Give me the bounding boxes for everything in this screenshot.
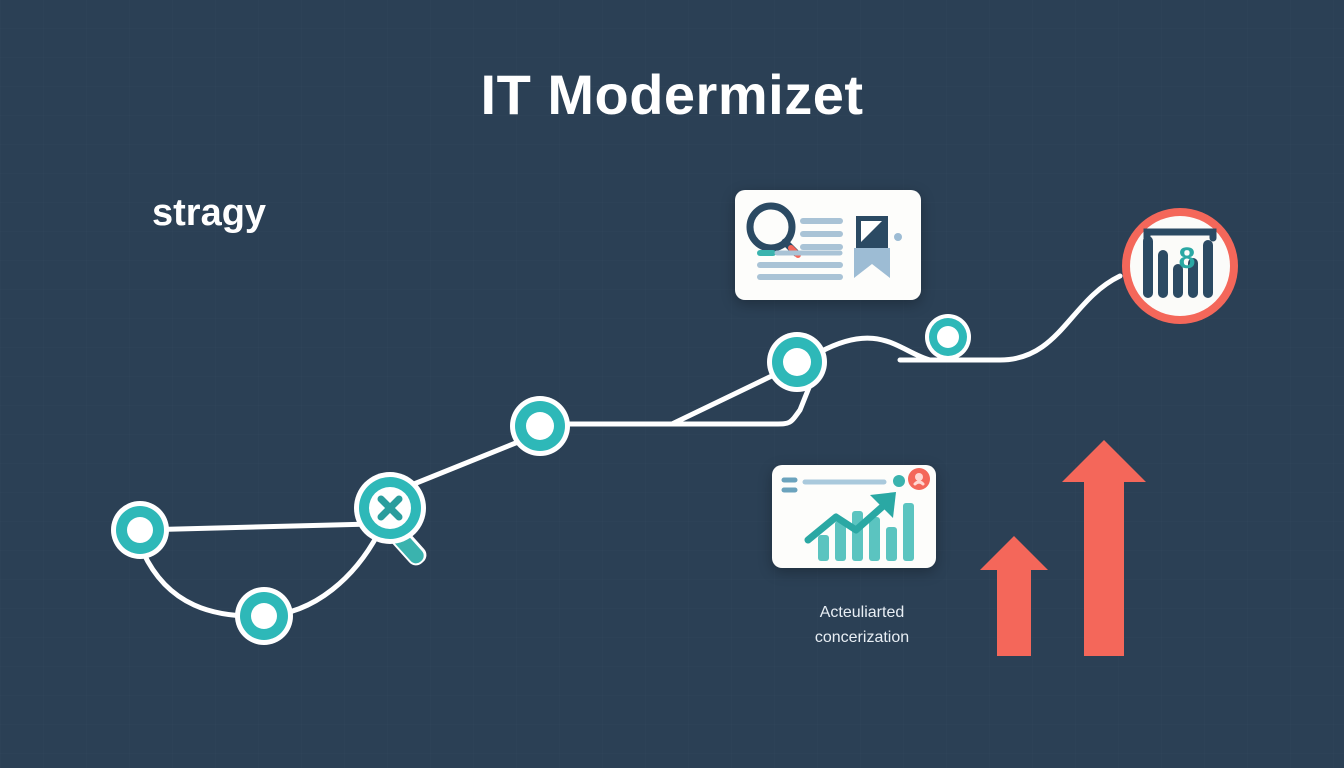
chart-caption-line-2: concerization bbox=[762, 625, 962, 650]
chart-caption: Acteuliarted concerization bbox=[762, 600, 962, 650]
growth-arrow-small bbox=[980, 536, 1048, 656]
page-title: IT Modermizet bbox=[0, 62, 1344, 127]
chart-caption-line-1: Acteuliarted bbox=[762, 600, 962, 625]
infographic-canvas: 8 IT Modermizet stragy Acteuliarted conc… bbox=[0, 0, 1344, 768]
page-subtitle: stragy bbox=[152, 192, 266, 235]
growth-arrow-large bbox=[1062, 440, 1146, 656]
